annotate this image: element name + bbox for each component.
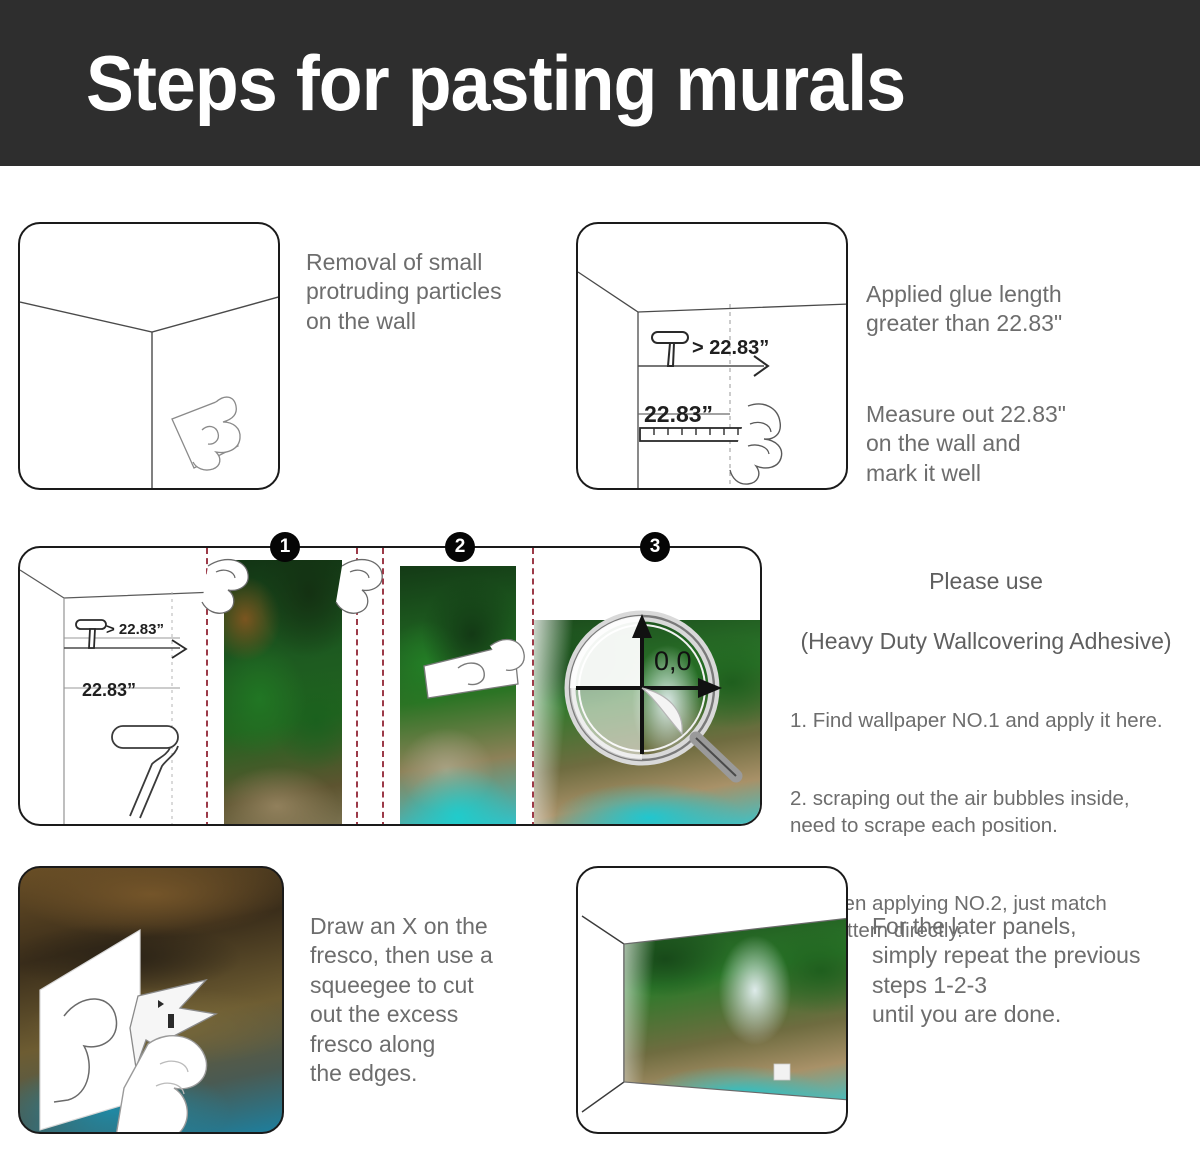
label-glue-length: > 22.83”: [692, 337, 769, 359]
hand-marking-icon: [730, 404, 782, 484]
magnifier-overlay: 0,0: [20, 548, 762, 826]
instructions-block: Please use (Heavy Duty Wallcovering Adhe…: [790, 538, 1190, 974]
panel-repeat-steps: [576, 866, 848, 1134]
caption-repeat-steps: For the later panels, simply repeat the …: [872, 912, 1200, 1030]
trim-diagram: [20, 868, 284, 1134]
room-corner-diagram: [20, 224, 280, 490]
label-measure-length: 22.83”: [644, 401, 713, 427]
instruction-step-2: 2. scraping out the air bubbles inside, …: [790, 786, 1190, 839]
step-badge-1: 1: [270, 532, 300, 562]
panel-trim-excess: [18, 866, 284, 1134]
caption-trim-excess: Draw an X on the fresco, then use a sque…: [310, 912, 560, 1089]
instructions-heading-line1: Please use: [790, 567, 1182, 597]
panel-wall-preparation: [18, 222, 280, 490]
ruler-icon: [640, 428, 752, 441]
paint-roller-icon: [652, 332, 688, 366]
hand-holding-scraper-icon: [172, 397, 240, 470]
magnifier-icon: 0,0: [570, 614, 736, 776]
caption-glue-length: Applied glue length greater than 22.83": [866, 280, 1166, 339]
caption-wall-preparation: Removal of small protruding particles on…: [306, 248, 566, 336]
step-badge-3: 3: [640, 532, 670, 562]
header-banner: Steps for pasting murals: [0, 0, 1200, 166]
measure-diagram: > 22.83” 22.83”: [578, 224, 848, 490]
step-badge-2: 2: [445, 532, 475, 562]
caption-measure-wall: Measure out 22.83" on the wall and mark …: [866, 400, 1186, 488]
instructions-heading-line2: (Heavy Duty Wallcovering Adhesive): [790, 627, 1182, 657]
panel-apply-panels: > 22.83” 22.83”: [18, 546, 762, 826]
instruction-step-1: 1. Find wallpaper NO.1 and apply it here…: [790, 708, 1190, 735]
panel-glue-and-measure: > 22.83” 22.83”: [576, 222, 848, 490]
instruction-sheet: Steps for pasting murals Removal of smal…: [0, 0, 1200, 1152]
label-origin: 0,0: [654, 646, 692, 676]
page-title: Steps for pasting murals: [86, 38, 905, 129]
finished-mural-perspective: [578, 868, 848, 1134]
